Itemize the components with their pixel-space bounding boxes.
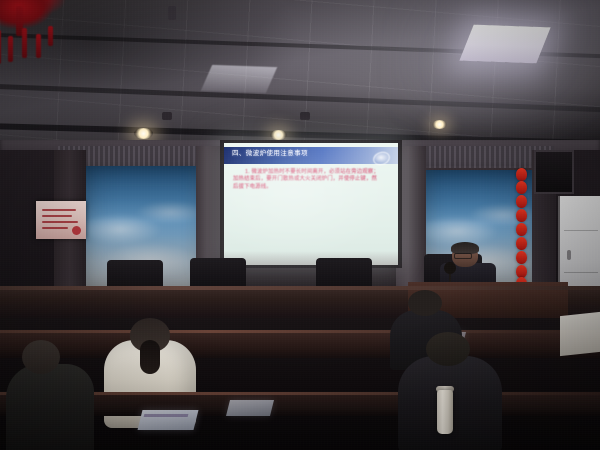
microphone-icon	[444, 262, 456, 274]
cabinet-seam	[564, 272, 598, 273]
poster-text-line	[42, 209, 76, 211]
downlight-icon	[270, 130, 287, 140]
bench-edge	[0, 330, 600, 333]
ponytail	[140, 340, 160, 374]
laptop-screen-content	[144, 414, 189, 417]
conference-room-photo: 四、微波炉使用注意事项 1. 微波炉加热时不要长时间离开，必须站在旁边观察； 加…	[0, 0, 600, 450]
red-chili-string	[516, 168, 528, 290]
poster-text-line	[42, 221, 78, 223]
attendee-dark-left	[6, 340, 94, 450]
attendee-head	[426, 332, 470, 366]
poster-text-line	[42, 215, 72, 217]
poster-seal-icon	[72, 226, 81, 235]
tassel	[48, 26, 53, 46]
cabinet-knob	[567, 250, 571, 260]
ceiling-panel-light	[459, 25, 550, 64]
chili-icon	[516, 237, 527, 250]
chili-icon	[516, 223, 527, 236]
white-paper-sheet	[560, 312, 600, 356]
glasses-icon	[454, 253, 472, 259]
poster-text-line	[42, 227, 68, 229]
laptop	[140, 410, 196, 430]
slide-body: 1. 微波炉加热时不要长时间离开，必须站在旁边观察； 加热结束后，要开门散热或大…	[233, 169, 389, 191]
podium-edge	[0, 286, 600, 290]
chili-icon	[516, 209, 527, 222]
tassel	[22, 28, 27, 58]
slide-corner-logo	[368, 149, 394, 166]
chili-icon	[516, 251, 527, 264]
laptop-screen	[138, 410, 199, 430]
chili-icon	[516, 181, 527, 194]
laptop	[228, 400, 272, 416]
ceiling-speaker-icon	[300, 112, 310, 120]
ceiling	[0, 0, 600, 146]
attendee-head	[408, 290, 442, 316]
slide-title: 四、微波炉使用注意事项	[232, 148, 308, 159]
projection-screen: 四、微波炉使用注意事项 1. 微波炉加热时不要长时间离开，必须站在旁边观察； 加…	[224, 143, 398, 265]
tassel	[8, 36, 13, 62]
chili-icon	[516, 168, 527, 181]
chili-icon	[516, 195, 527, 208]
tassel	[36, 34, 41, 58]
white-thermos-cup	[437, 390, 453, 434]
ceiling-panel-light-dim	[201, 65, 277, 93]
laptop-screen	[226, 400, 274, 416]
downlight-icon	[432, 120, 447, 129]
sprinkler-icon	[168, 6, 176, 20]
attendee-body	[6, 364, 94, 450]
slide-body-line: 后拔下电源线。	[233, 184, 389, 191]
red-hanging-knot	[0, 0, 78, 76]
ceiling-shading	[0, 0, 600, 146]
slide-body-line: 加热结束后，要开门散热或大火关闭炉门，并使停止键，然	[233, 176, 389, 183]
ceiling-speaker-icon	[162, 112, 172, 120]
cabinet-seam	[564, 230, 598, 231]
tassel	[0, 30, 1, 64]
wall-mounted-monitor	[534, 150, 574, 194]
red-wall-poster	[36, 201, 86, 239]
downlight-icon	[134, 128, 153, 139]
attendee-head	[22, 340, 60, 374]
